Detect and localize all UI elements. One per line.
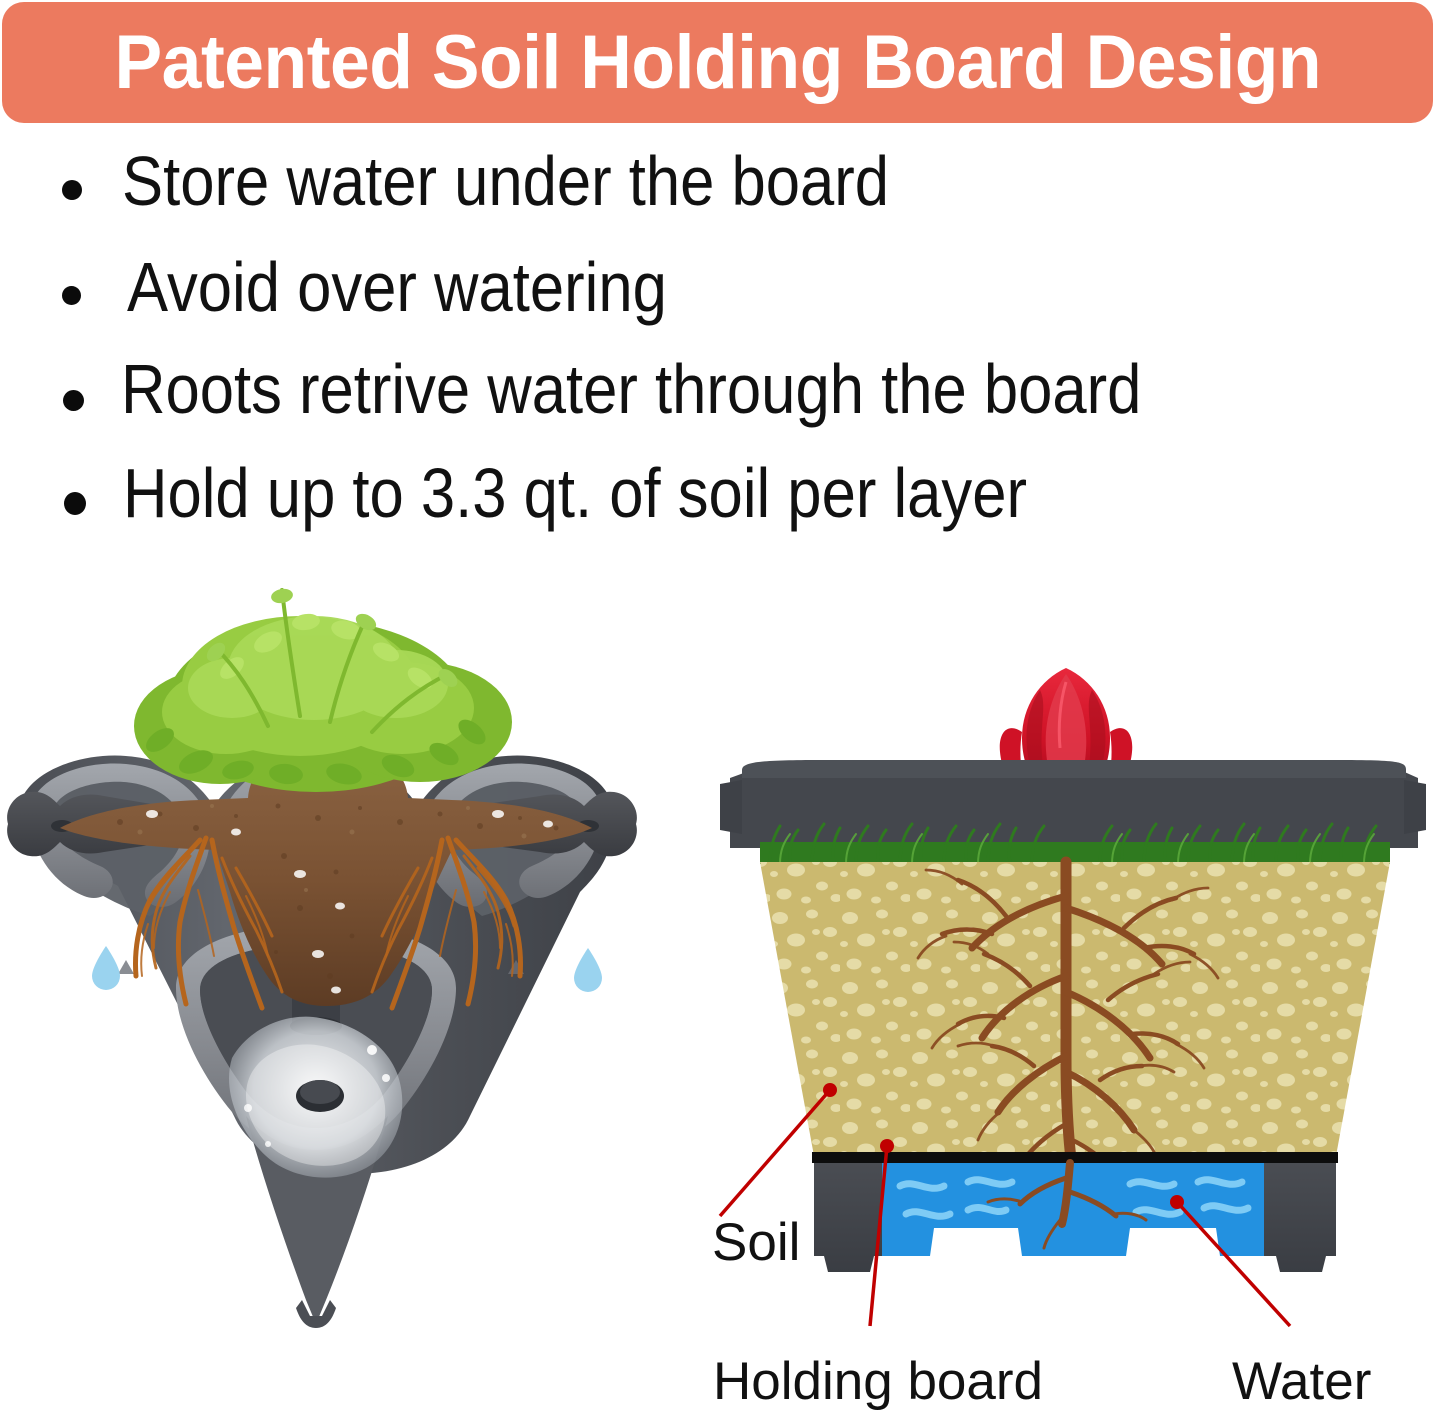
water-reservoir xyxy=(882,1163,1264,1256)
bullet-dot-icon xyxy=(62,286,81,305)
soil-layer xyxy=(760,862,1390,1156)
bullet-dot-icon xyxy=(63,390,84,411)
right-cross-section-diagram xyxy=(700,556,1445,1415)
callout-label-holding-board: Holding board xyxy=(713,1355,1043,1408)
list-item: Avoid over watering xyxy=(0,244,1445,348)
graphics-area xyxy=(0,556,1445,1415)
left-product-illustration xyxy=(0,556,720,1415)
callout-label-water: Water xyxy=(1232,1355,1371,1408)
plant-foliage xyxy=(134,587,512,792)
holding-board-line xyxy=(812,1152,1338,1163)
page-title: Patented Soil Holding Board Design xyxy=(114,25,1321,101)
feature-bullet-list: Store water under the board Avoid over w… xyxy=(0,140,1445,556)
feature-label: Avoid over watering xyxy=(127,252,667,322)
feature-label: Hold up to 3.3 qt. of soil per layer xyxy=(123,458,1027,528)
header-banner: Patented Soil Holding Board Design xyxy=(2,2,1433,123)
feature-label: Store water under the board xyxy=(122,146,889,216)
callout-label-soil: Soil xyxy=(712,1216,800,1269)
feature-label: Roots retrive water through the board xyxy=(121,354,1141,424)
list-item: Hold up to 3.3 qt. of soil per layer xyxy=(0,452,1445,556)
bullet-dot-icon xyxy=(64,492,86,515)
bullet-dot-icon xyxy=(62,180,82,200)
list-item: Roots retrive water through the board xyxy=(0,348,1445,452)
list-item: Store water under the board xyxy=(0,140,1445,244)
